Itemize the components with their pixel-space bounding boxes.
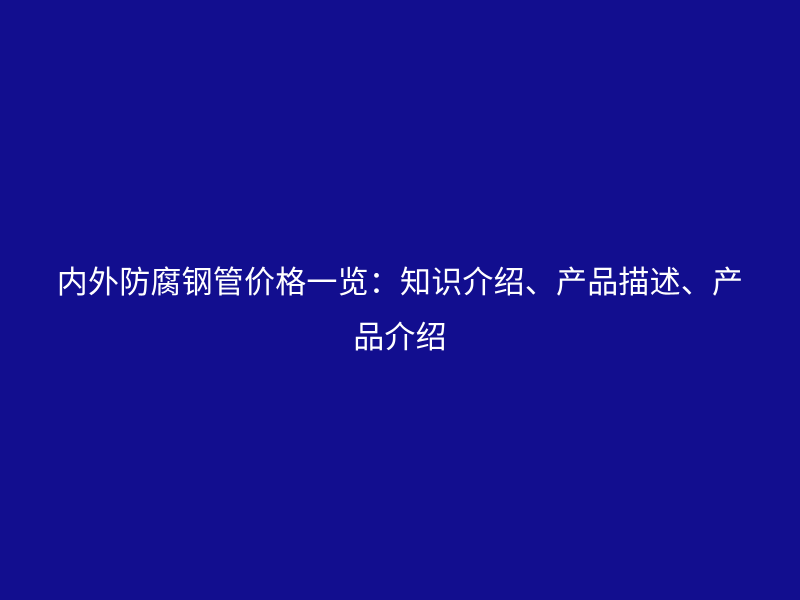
title-block: 内外防腐钢管价格一览：知识介绍、产品描述、产品介绍 [50,256,750,366]
page-title: 内外防腐钢管价格一览：知识介绍、产品描述、产品介绍 [50,256,750,366]
slide-canvas: 内外防腐钢管价格一览：知识介绍、产品描述、产品介绍 [0,0,800,600]
